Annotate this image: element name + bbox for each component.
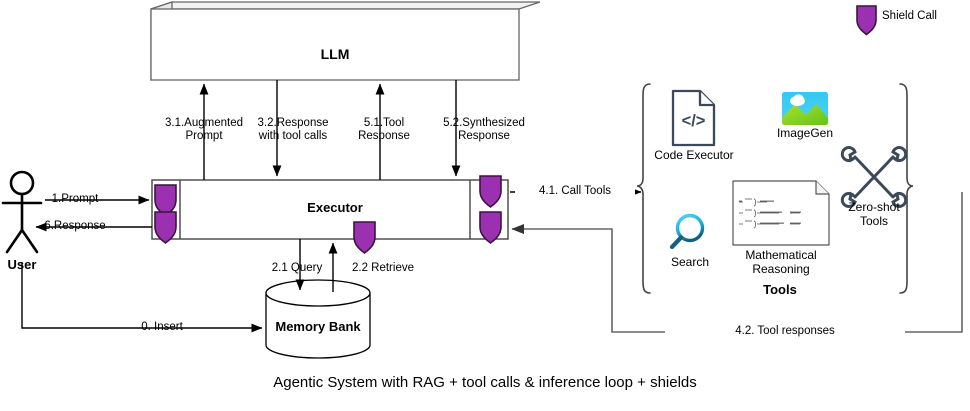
tool-label-imagegen: ImageGen: [762, 126, 848, 140]
brace-left: [637, 84, 650, 293]
edge-label-0-insert: 0. Insert: [62, 321, 262, 334]
llm-node: [151, 2, 540, 80]
tool-label-math-reasoning: Mathematical Reasoning: [730, 248, 832, 276]
executor-label: Executor: [255, 201, 415, 214]
shield-executor-memory: [354, 222, 375, 253]
brace-right: [900, 84, 913, 293]
diagram-canvas: </>: [0, 0, 970, 411]
tool-label-code-executor: Code Executor: [643, 148, 745, 162]
magnifier-icon: [672, 216, 703, 248]
edge-label-4-2-tool-responses: 4.2. Tool responses: [665, 325, 905, 338]
tool-label-zero-shot-tools: Zero-shot Tools: [832, 200, 916, 228]
legend-shield-label: Shield Call: [882, 10, 970, 23]
edge-label-2-1-query: 2.1 Query: [252, 262, 342, 275]
shield-legend-icon: [857, 6, 876, 35]
tools-group-label: Tools: [725, 283, 835, 296]
svg-text:</>: </>: [682, 112, 706, 130]
image-icon: [782, 92, 828, 125]
edge-label-5-1-tool-response: 5.1.Tool Response: [338, 117, 430, 143]
edge-label-1-prompt: 1.Prompt: [0, 193, 150, 206]
edge-label-6-response: 6.Response: [0, 220, 150, 233]
tool-label-search: Search: [655, 255, 725, 269]
user-label: User: [0, 258, 44, 271]
edge-label-3-2-response-tool-calls: 3.2.Response with tool calls: [232, 117, 354, 143]
code-document-icon: </>: [673, 91, 714, 145]
edge-0-insert: [22, 262, 262, 328]
formula-document-icon: [733, 181, 829, 245]
edge-label-5-2-synthesized-response: 5.2.Synthesized Response: [418, 117, 550, 143]
edge-label-2-2-retrieve: 2.2 Retrieve: [333, 262, 433, 275]
memory-bank-label: Memory Bank: [248, 320, 388, 333]
user-actor: [3, 172, 41, 252]
diagram-caption: Agentic System with RAG + tool calls & i…: [0, 374, 970, 391]
llm-label: LLM: [255, 48, 415, 61]
crossed-wrenches-icon: [842, 148, 905, 207]
edge-label-4-1-call-tools: 4.1. Call Tools: [515, 185, 635, 198]
